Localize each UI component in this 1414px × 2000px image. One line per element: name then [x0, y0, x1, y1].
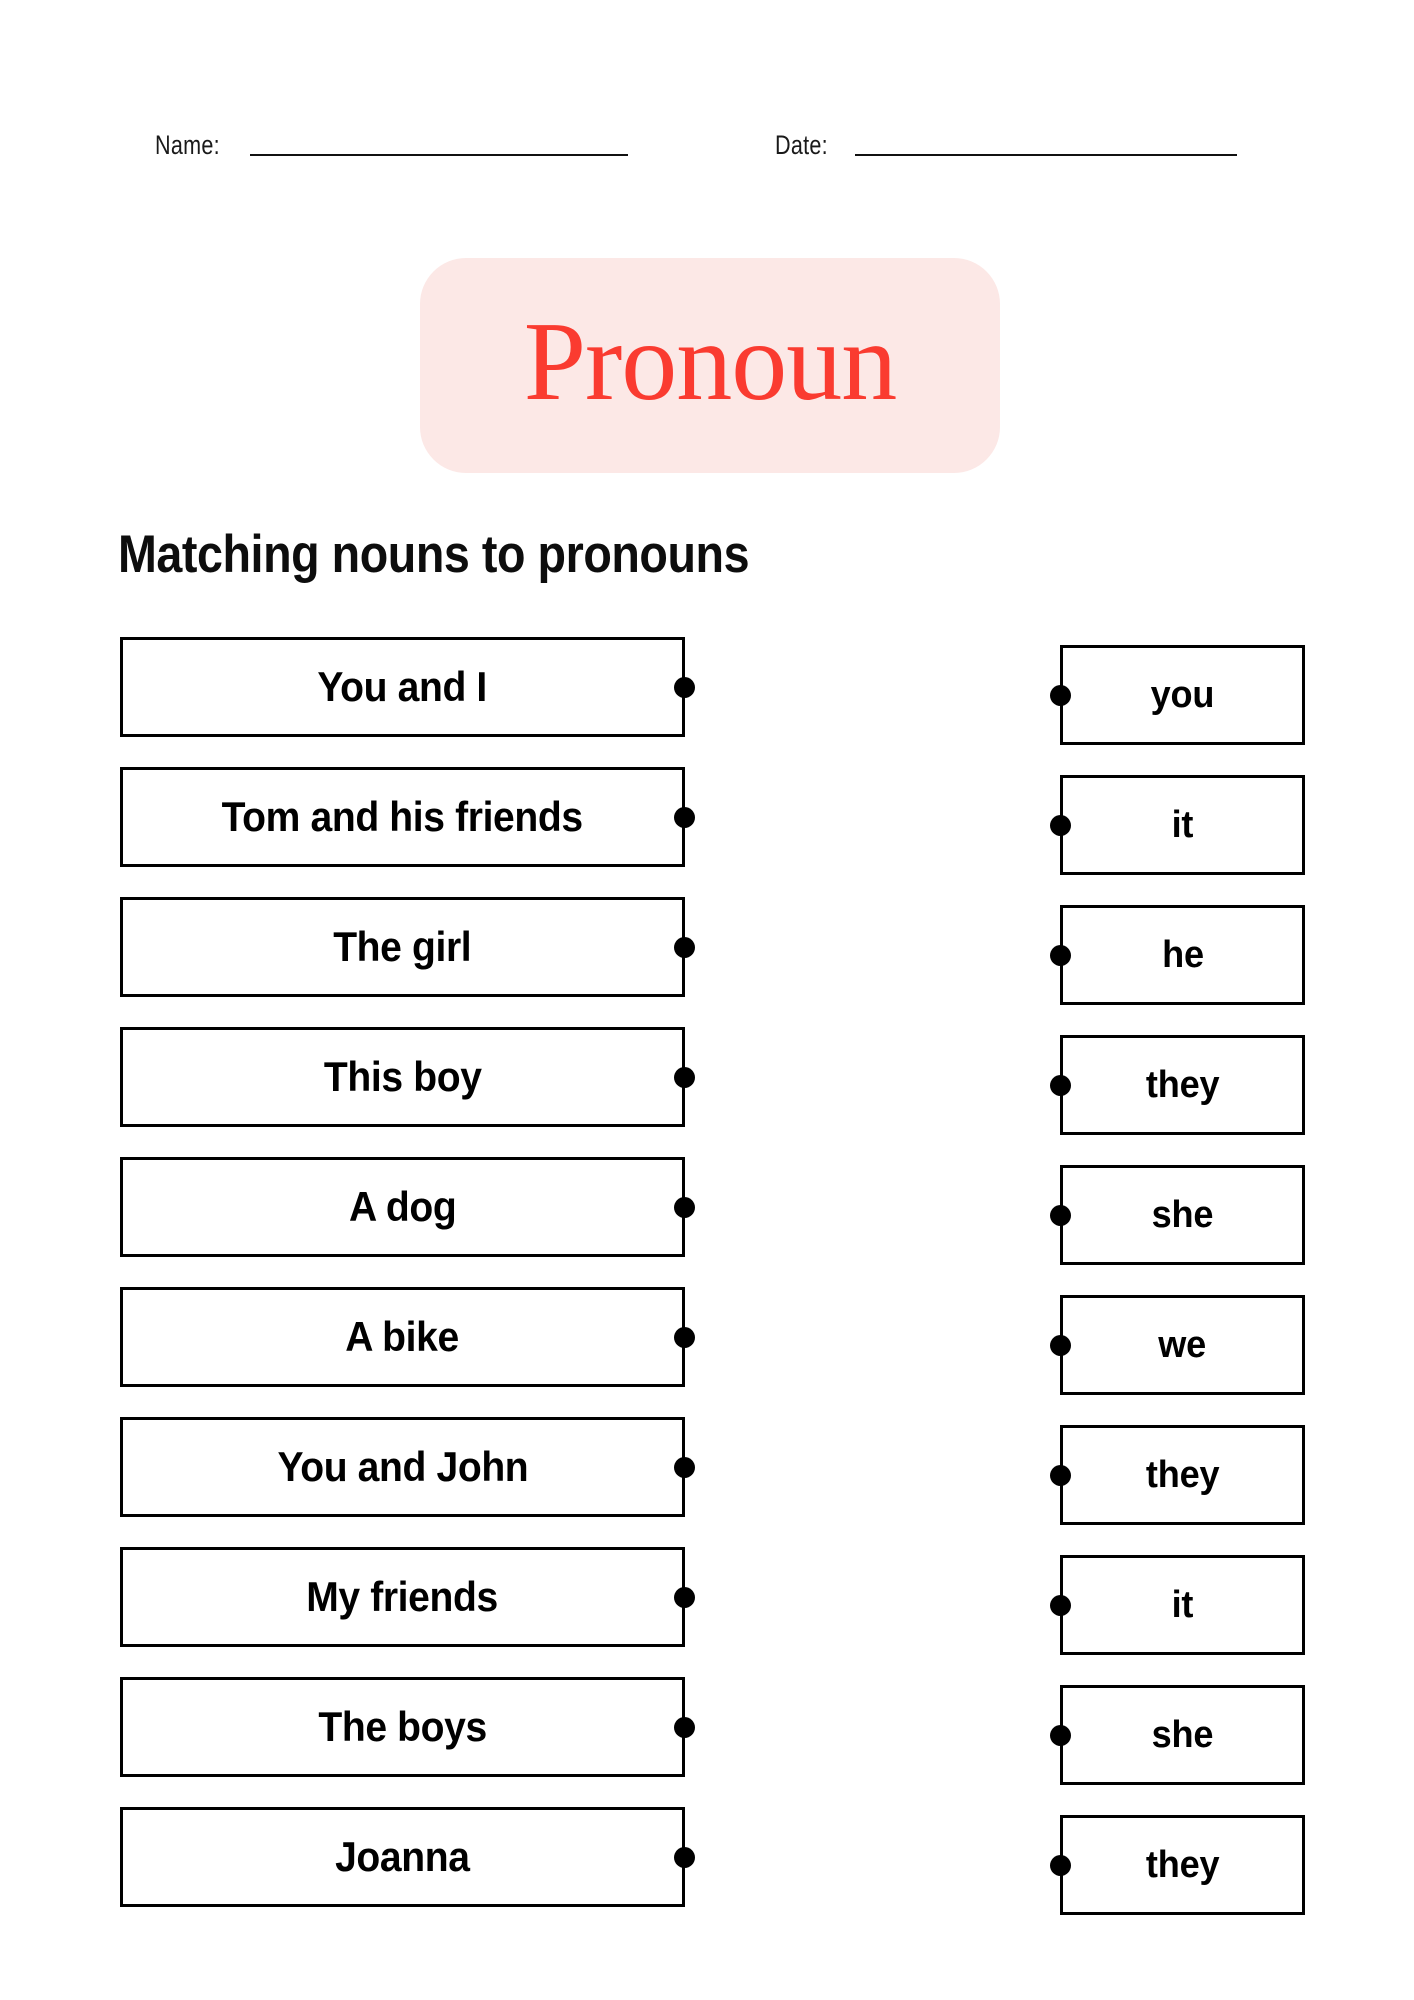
- pronoun-label: we: [1159, 1326, 1207, 1364]
- term-box[interactable]: This boy: [120, 1027, 685, 1127]
- pronoun-label: they: [1146, 1066, 1219, 1104]
- term-label: You and John: [277, 1446, 528, 1488]
- term-box[interactable]: A bike: [120, 1287, 685, 1387]
- match-row: A bikewe: [0, 1287, 1414, 1417]
- connector-dot-icon[interactable]: [674, 1847, 695, 1868]
- pronoun-box[interactable]: they: [1060, 1035, 1305, 1135]
- pronoun-label: it: [1172, 1586, 1194, 1624]
- term-label: A bike: [346, 1316, 460, 1358]
- pronoun-box[interactable]: you: [1060, 645, 1305, 745]
- connector-dot-icon[interactable]: [1050, 1465, 1071, 1486]
- pronoun-box[interactable]: it: [1060, 775, 1305, 875]
- term-box[interactable]: The girl: [120, 897, 685, 997]
- term-label: The boys: [318, 1706, 486, 1748]
- connector-dot-icon[interactable]: [1050, 1725, 1071, 1746]
- pronoun-label: you: [1151, 676, 1215, 714]
- worksheet-page: Name: Date: Pronoun Matching nouns to pr…: [0, 0, 1414, 2000]
- connector-dot-icon[interactable]: [1050, 1075, 1071, 1096]
- pronoun-label: they: [1146, 1846, 1219, 1884]
- match-row: This boythey: [0, 1027, 1414, 1157]
- term-box[interactable]: My friends: [120, 1547, 685, 1647]
- match-row: The girlhe: [0, 897, 1414, 1027]
- connector-dot-icon[interactable]: [674, 1197, 695, 1218]
- connector-dot-icon[interactable]: [674, 937, 695, 958]
- connector-dot-icon[interactable]: [1050, 1205, 1071, 1226]
- match-row: My friendsit: [0, 1547, 1414, 1677]
- match-row: Joannathey: [0, 1807, 1414, 1937]
- connector-dot-icon[interactable]: [674, 1067, 695, 1088]
- term-label: This boy: [324, 1056, 482, 1098]
- pronoun-label: it: [1172, 806, 1194, 844]
- pronoun-label: he: [1162, 936, 1204, 974]
- pronoun-label: they: [1146, 1456, 1219, 1494]
- connector-dot-icon[interactable]: [674, 807, 695, 828]
- pronoun-box[interactable]: she: [1060, 1165, 1305, 1265]
- connector-dot-icon[interactable]: [1050, 1335, 1071, 1356]
- pronoun-box[interactable]: we: [1060, 1295, 1305, 1395]
- term-label: A dog: [349, 1186, 456, 1228]
- pronoun-box[interactable]: they: [1060, 1815, 1305, 1915]
- pronoun-box[interactable]: she: [1060, 1685, 1305, 1785]
- matching-exercise: You and IyouTom and his friendsitThe gir…: [0, 0, 1414, 2000]
- match-row: Tom and his friendsit: [0, 767, 1414, 897]
- connector-dot-icon[interactable]: [674, 1327, 695, 1348]
- connector-dot-icon[interactable]: [1050, 945, 1071, 966]
- term-label: Joanna: [335, 1836, 470, 1878]
- connector-dot-icon[interactable]: [674, 1717, 695, 1738]
- term-label: You and I: [318, 666, 488, 708]
- connector-dot-icon[interactable]: [674, 1587, 695, 1608]
- term-box[interactable]: You and John: [120, 1417, 685, 1517]
- match-row: You and Iyou: [0, 637, 1414, 767]
- term-box[interactable]: Tom and his friends: [120, 767, 685, 867]
- term-box[interactable]: A dog: [120, 1157, 685, 1257]
- pronoun-label: she: [1152, 1716, 1214, 1754]
- term-box[interactable]: You and I: [120, 637, 685, 737]
- connector-dot-icon[interactable]: [1050, 685, 1071, 706]
- connector-dot-icon[interactable]: [674, 1457, 695, 1478]
- term-box[interactable]: The boys: [120, 1677, 685, 1777]
- term-label: My friends: [307, 1576, 499, 1618]
- term-label: The girl: [333, 926, 471, 968]
- term-label: Tom and his friends: [222, 796, 583, 838]
- connector-dot-icon[interactable]: [1050, 815, 1071, 836]
- match-row: You and Johnthey: [0, 1417, 1414, 1547]
- pronoun-box[interactable]: he: [1060, 905, 1305, 1005]
- connector-dot-icon[interactable]: [1050, 1595, 1071, 1616]
- match-row: A dogshe: [0, 1157, 1414, 1287]
- connector-dot-icon[interactable]: [1050, 1855, 1071, 1876]
- pronoun-label: she: [1152, 1196, 1214, 1234]
- term-box[interactable]: Joanna: [120, 1807, 685, 1907]
- connector-dot-icon[interactable]: [674, 677, 695, 698]
- pronoun-box[interactable]: they: [1060, 1425, 1305, 1525]
- pronoun-box[interactable]: it: [1060, 1555, 1305, 1655]
- match-row: The boysshe: [0, 1677, 1414, 1807]
